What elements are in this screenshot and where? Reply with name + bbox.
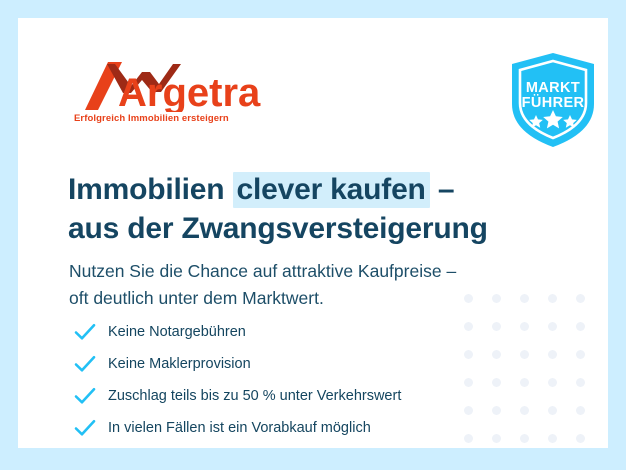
shield-badge-icon: MARKT FÜHRER xyxy=(505,50,601,150)
badge-line2: FÜHRER xyxy=(522,94,585,111)
badge-line1: MARKT xyxy=(526,80,580,96)
dot xyxy=(576,350,585,359)
check-icon xyxy=(74,323,96,341)
argetra-roof-arrow-icon: Argetra xyxy=(74,60,274,112)
ad-frame: Argetra Erfolgreich Immobilien ersteiger… xyxy=(0,0,626,470)
dot xyxy=(576,322,585,331)
headline-prefix: Immobilien xyxy=(68,173,233,206)
subheadline: Nutzen Sie die Chance auf attraktive Kau… xyxy=(69,258,549,313)
dot xyxy=(548,378,557,387)
market-leader-badge: MARKT FÜHRER xyxy=(505,50,601,150)
list-item: In vielen Fällen ist ein Vorabkauf mögli… xyxy=(74,412,544,444)
headline-suffix: – xyxy=(430,173,455,206)
dot xyxy=(548,406,557,415)
benefit-label: Keine Maklerprovision xyxy=(108,356,251,372)
headline-line-1: Immobilien clever kaufen – xyxy=(68,170,568,209)
page-title: Immobilien clever kaufen – aus der Zwang… xyxy=(68,170,568,248)
logo-mark-row: Argetra xyxy=(74,60,284,112)
subheadline-line-1: Nutzen Sie die Chance auf attraktive Kau… xyxy=(69,258,549,285)
dot xyxy=(548,322,557,331)
list-item: Keine Maklerprovision xyxy=(74,348,544,380)
benefit-label: In vielen Fällen ist ein Vorabkauf mögli… xyxy=(108,420,371,436)
dot xyxy=(576,378,585,387)
check-icon xyxy=(74,419,96,437)
dot xyxy=(548,434,557,443)
dot xyxy=(576,434,585,443)
subheadline-line-2: oft deutlich unter dem Marktwert. xyxy=(69,285,549,312)
dot xyxy=(576,294,585,303)
logo-tagline: Erfolgreich Immobilien ersteigern xyxy=(74,113,284,124)
benefits-list: Keine Notargebühren Keine Maklerprovisio… xyxy=(74,316,544,444)
check-icon xyxy=(74,387,96,405)
check-icon xyxy=(74,355,96,373)
list-item: Zuschlag teils bis zu 50 % unter Verkehr… xyxy=(74,380,544,412)
ad-card: Argetra Erfolgreich Immobilien ersteiger… xyxy=(18,18,608,448)
dot xyxy=(548,350,557,359)
argetra-logo[interactable]: Argetra Erfolgreich Immobilien ersteiger… xyxy=(74,60,284,124)
benefit-label: Keine Notargebühren xyxy=(108,324,246,340)
benefit-label: Zuschlag teils bis zu 50 % unter Verkehr… xyxy=(108,388,401,404)
headline-line-2: aus der Zwangsversteigerung xyxy=(68,209,568,248)
headline-highlight: clever kaufen xyxy=(233,172,430,208)
dot xyxy=(576,406,585,415)
logo-wordmark: Argetra xyxy=(118,71,261,112)
list-item: Keine Notargebühren xyxy=(74,316,544,348)
